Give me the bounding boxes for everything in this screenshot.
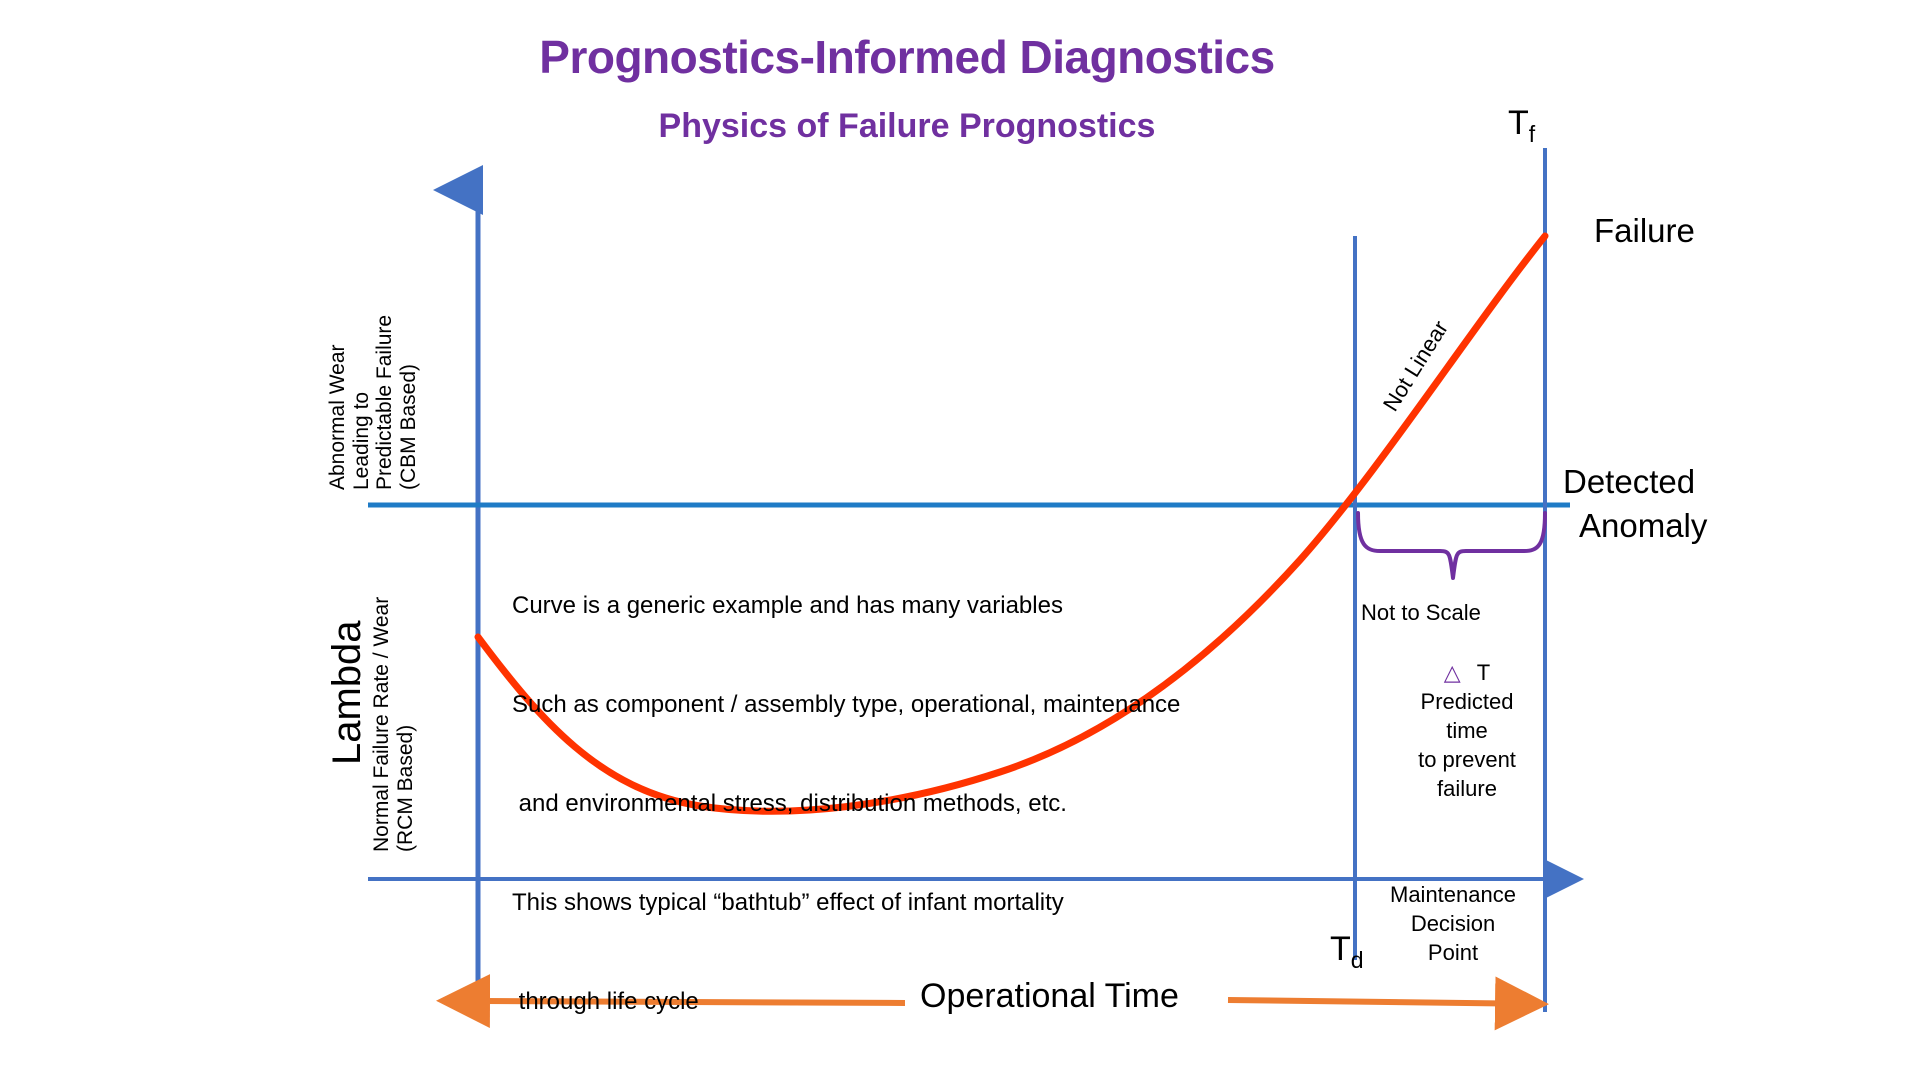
failure-label: Failure	[1594, 212, 1695, 250]
x-axis-name: Operational Time	[912, 977, 1187, 1016]
not-to-scale-label: Not to Scale	[1361, 600, 1481, 626]
page-subtitle: Physics of Failure Prognostics	[0, 107, 1867, 146]
detected-anomaly-line-1: Detected	[1563, 460, 1707, 504]
td-base: T	[1330, 930, 1351, 968]
delta-t-desc-2: time	[1372, 716, 1562, 745]
delta-t-desc-1: Predicted	[1372, 687, 1562, 716]
y-axis-upper-line-2: Leading to	[350, 392, 373, 490]
y-axis-upper-line-4: (CBM Based)	[397, 364, 420, 490]
y-axis-lower-label: Normal Failure Rate / Wear (RCM Based)	[370, 597, 417, 852]
detected-anomaly-label: Detected Anomaly	[1563, 460, 1707, 548]
delta-t-desc-3: to prevent	[1372, 745, 1562, 774]
tf-marker-label: Tf	[1508, 104, 1535, 148]
note-line-4: This shows typical “bathtub” effect of i…	[512, 886, 1180, 919]
mdp-line-1: Maintenance	[1358, 880, 1548, 909]
note-line-1: Curve is a generic example and has many …	[512, 589, 1180, 622]
y-axis-upper-label: Abnormal Wear Leading to Predictable Fai…	[326, 315, 420, 490]
y-axis-lower-line-1: Normal Failure Rate / Wear	[370, 597, 393, 852]
detected-anomaly-line-2: Anomaly	[1563, 504, 1707, 548]
delta-t-block: △ T Predicted time to prevent failure	[1372, 658, 1562, 803]
delta-t-brace	[1358, 513, 1545, 578]
y-axis-upper-line-1: Abnormal Wear	[326, 344, 349, 490]
delta-t-header: △ T	[1372, 658, 1562, 687]
diagram-canvas: Prognostics-Informed Diagnostics Physics…	[0, 0, 1920, 1080]
tf-base: T	[1508, 104, 1529, 142]
delta-triangle-icon: △	[1444, 660, 1461, 685]
operational-time-arrow-right	[1228, 1000, 1543, 1004]
y-axis-name: Lambda	[325, 620, 370, 765]
note-line-2: Such as component / assembly type, opera…	[512, 688, 1180, 721]
tf-subscript: f	[1529, 121, 1535, 147]
note-line-3: and environmental stress, distribution m…	[512, 787, 1180, 820]
page-title: Prognostics-Informed Diagnostics	[0, 30, 1867, 84]
mdp-line-2: Decision	[1358, 909, 1548, 938]
delta-t-letter: T	[1467, 660, 1490, 685]
delta-t-desc-4: failure	[1372, 774, 1562, 803]
maintenance-decision-point-label: Maintenance Decision Point	[1358, 880, 1548, 967]
y-axis-lower-line-2: (RCM Based)	[394, 725, 417, 852]
mdp-line-3: Point	[1358, 938, 1548, 967]
y-axis-upper-line-3: Predictable Failure	[373, 315, 396, 490]
